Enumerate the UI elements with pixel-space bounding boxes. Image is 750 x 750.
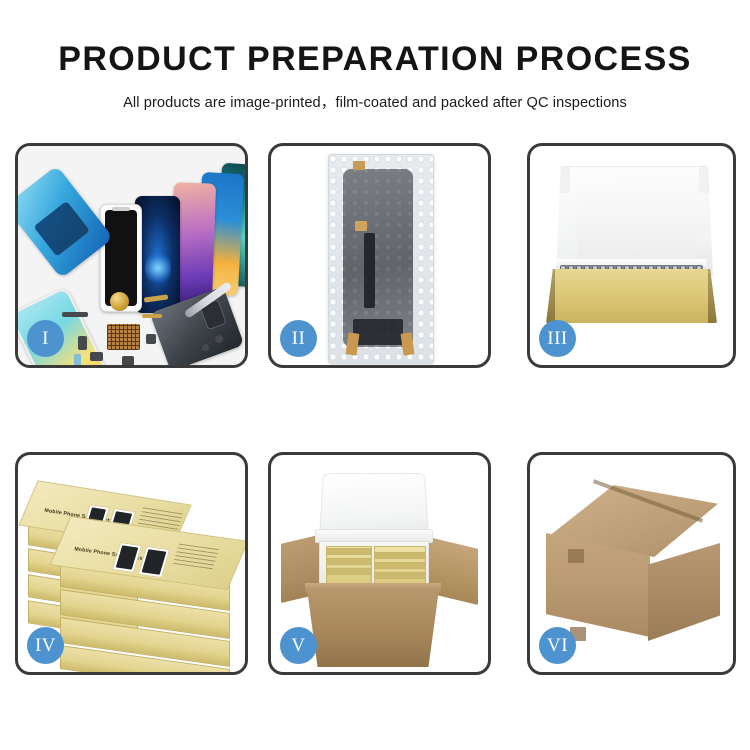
- gold-component-icon: [110, 292, 129, 311]
- step-badge-1: I: [27, 320, 64, 357]
- yellow-box-tray-icon: [546, 269, 717, 323]
- flex-cable-icon: [74, 354, 81, 365]
- small-part-icon: [78, 336, 87, 350]
- chip-icon: [62, 312, 88, 317]
- step-badge-2: II: [280, 320, 317, 357]
- tape-icon: [353, 161, 365, 170]
- screw-icon: [202, 344, 209, 351]
- lcd-screen-icon: [343, 169, 413, 347]
- process-step-panel-3[interactable]: III: [527, 143, 736, 368]
- packed-box-icon: [326, 548, 372, 555]
- process-step-panel-2[interactable]: II: [268, 143, 491, 368]
- bubble-wrap-icon: [328, 154, 434, 364]
- carton-body-icon: [307, 589, 439, 667]
- tape-icon: [345, 332, 359, 355]
- small-part-icon: [122, 356, 134, 365]
- step-badge-4: IV: [27, 627, 64, 664]
- step-badge-5: V: [280, 627, 317, 664]
- sealed-carton-assembly: [544, 485, 719, 650]
- packed-box-icon: [374, 552, 426, 559]
- step-badge-3: III: [539, 320, 576, 357]
- small-part-icon: [146, 334, 156, 344]
- foam-inner-panel-icon: [577, 189, 696, 263]
- carton-tab-icon: [568, 549, 584, 563]
- carton-side-face-icon: [648, 543, 720, 641]
- process-panel-grid: I II: [0, 0, 750, 750]
- small-part-icon: [90, 352, 103, 361]
- tape-icon: [355, 221, 367, 231]
- tape-icon: [400, 332, 414, 355]
- process-step-panel-1[interactable]: I: [15, 143, 248, 368]
- flex-cable-icon: [142, 314, 162, 318]
- packed-box-icon: [374, 562, 426, 569]
- process-step-panel-6[interactable]: VI: [527, 452, 736, 675]
- step-badge-6: VI: [539, 627, 576, 664]
- connector-plate-icon: [353, 319, 403, 345]
- process-step-panel-5[interactable]: V: [268, 452, 491, 675]
- packed-box-icon: [374, 572, 426, 579]
- process-step-panel-4[interactable]: Mobile Phone Spare Parts Mobile Phone Sp…: [15, 452, 248, 675]
- packed-box-icon: [326, 558, 372, 565]
- flex-cable-icon: [364, 233, 375, 308]
- packed-box-icon: [326, 568, 372, 575]
- screw-icon: [215, 335, 223, 343]
- connector-board-icon: [107, 324, 140, 350]
- carton-assembly: [281, 471, 478, 654]
- box-assembly: [546, 166, 717, 323]
